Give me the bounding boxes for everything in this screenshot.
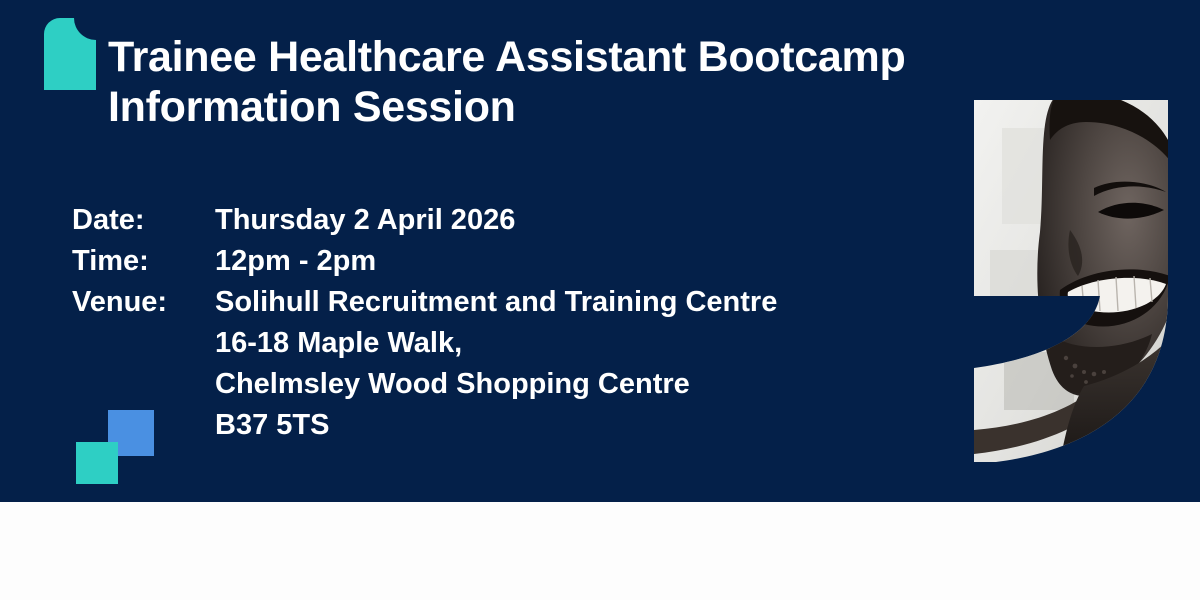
detail-value-time: 12pm - 2pm [215, 241, 777, 282]
detail-value-date: Thursday 2 April 2026 [215, 200, 777, 241]
title-line-2: Information Session [108, 82, 968, 132]
page-title: Trainee Healthcare Assistant Bootcamp In… [108, 32, 968, 133]
footer-logo-band: Funded by UK Government West Midlands Co… [0, 502, 1200, 600]
detail-row-date: Date: Thursday 2 April 2026 [72, 200, 777, 241]
detail-row-time: Time: 12pm - 2pm [72, 241, 777, 282]
decorative-teal-square [76, 442, 118, 484]
venue-address-line-1: 16-18 Maple Walk, [215, 323, 777, 364]
detail-row-venue: Venue: Solihull Recruitment and Training… [72, 282, 777, 323]
detail-label-time: Time: [72, 241, 215, 282]
participant-photo [974, 100, 1168, 462]
detail-value-venue: Solihull Recruitment and Training Centre [215, 282, 777, 323]
title-line-1: Trainee Healthcare Assistant Bootcamp [108, 32, 968, 82]
detail-label-date: Date: [72, 200, 215, 241]
event-poster: Trainee Healthcare Assistant Bootcamp In… [0, 0, 1200, 600]
venue-address-line-2: Chelmsley Wood Shopping Centre [215, 364, 777, 405]
teal-quote-mark-icon [44, 18, 96, 90]
detail-label-venue: Venue: [72, 282, 215, 323]
event-details: Date: Thursday 2 April 2026 Time: 12pm -… [72, 200, 777, 446]
venue-address-line-3: B37 5TS [215, 405, 777, 446]
hero-panel: Trainee Healthcare Assistant Bootcamp In… [0, 0, 1200, 502]
